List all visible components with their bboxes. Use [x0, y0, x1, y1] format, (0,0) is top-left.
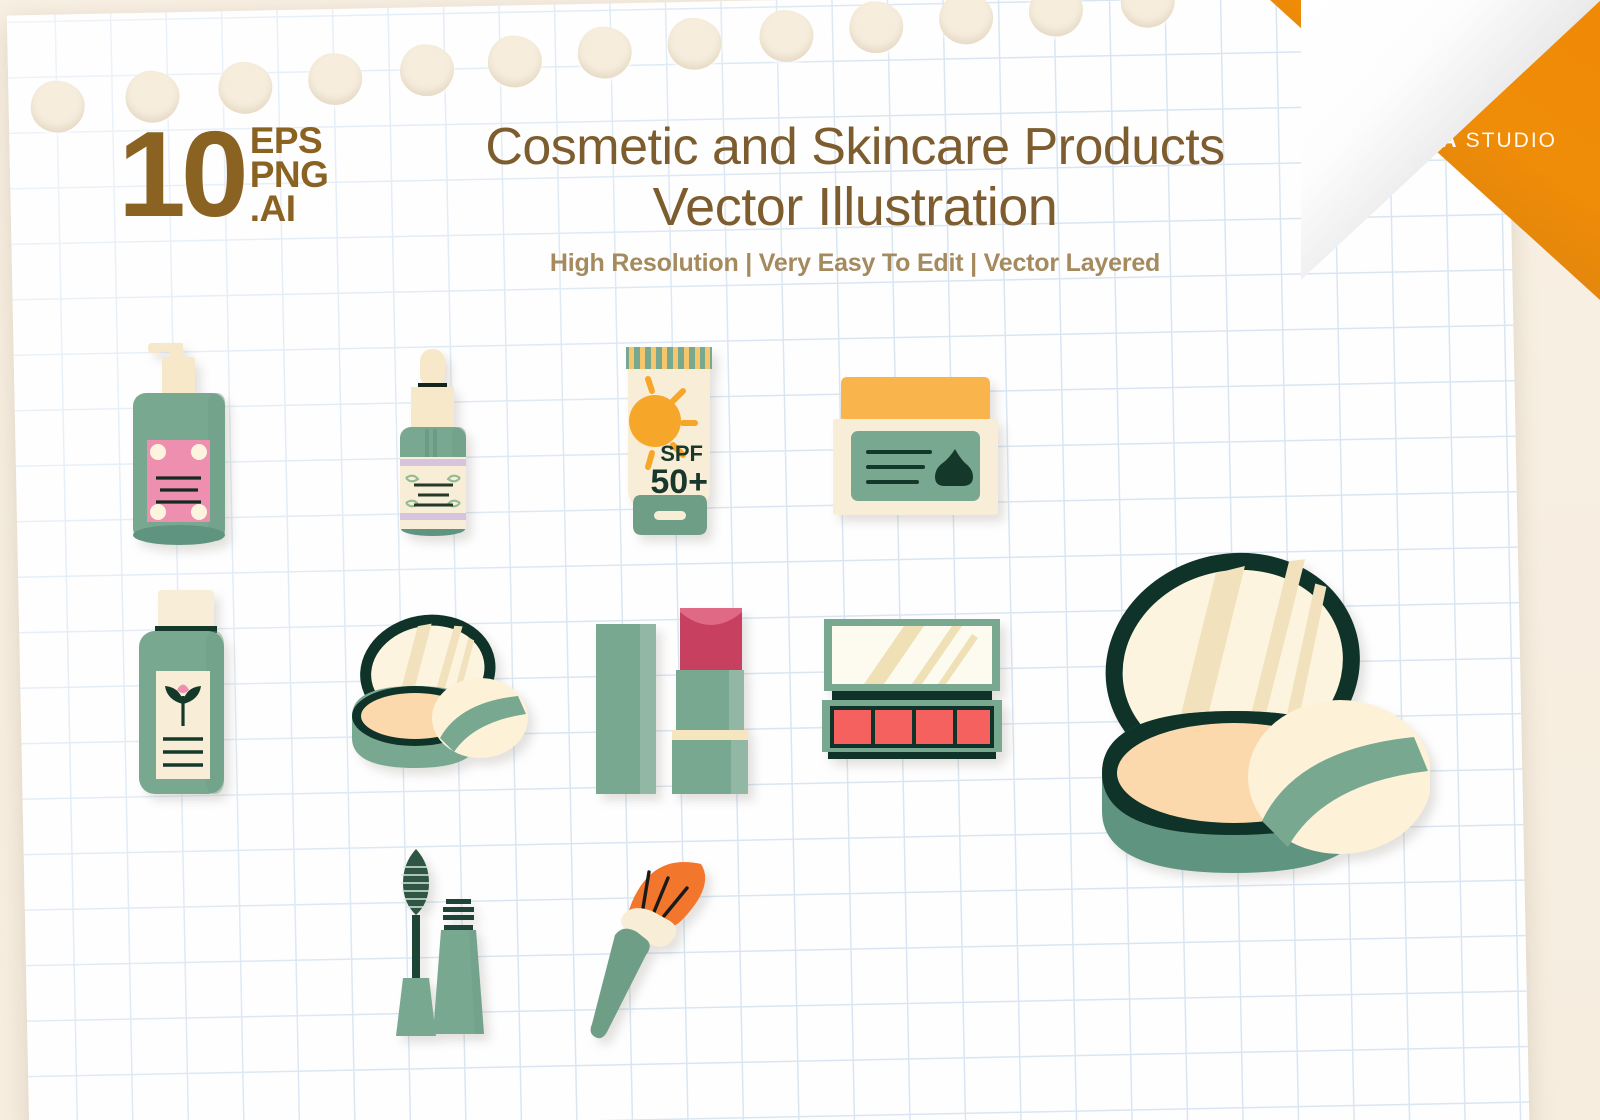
product-cream-jar: [833, 367, 998, 527]
page-subtitle-large: Vector Illustration: [440, 177, 1270, 237]
product-compact-powder: [330, 598, 530, 783]
product-lipstick: [592, 592, 752, 802]
format-ai: .AI: [250, 192, 329, 226]
asset-count-block: 10 EPS PNG .AI: [118, 118, 328, 230]
product-blush-palette: [820, 615, 1005, 770]
product-hero-compact: [1040, 505, 1430, 890]
brand-name-thin: STUDIO: [1466, 129, 1557, 152]
format-list: EPS PNG .AI: [250, 124, 329, 226]
product-pump-bottle: [120, 335, 240, 565]
feature-line: High Resolution | Very Easy To Edit | Ve…: [440, 249, 1270, 278]
format-png: PNG: [250, 158, 329, 192]
product-mascara: [385, 835, 490, 1045]
product-makeup-brush: [588, 832, 718, 1047]
format-eps: EPS: [250, 124, 329, 158]
page-title: Cosmetic and Skincare Products: [440, 120, 1270, 175]
product-sunscreen-tube: SPF 50+: [615, 343, 725, 548]
poster-canvas: 10 EPS PNG .AI Cosmetic and Skincare Pro…: [0, 0, 1600, 1120]
product-toner-bottle: [122, 586, 232, 813]
asset-count: 10: [118, 118, 244, 230]
palette-pans: [834, 710, 990, 744]
title-block: Cosmetic and Skincare Products Vector Il…: [440, 120, 1270, 278]
product-serum-dropper: [380, 345, 485, 560]
